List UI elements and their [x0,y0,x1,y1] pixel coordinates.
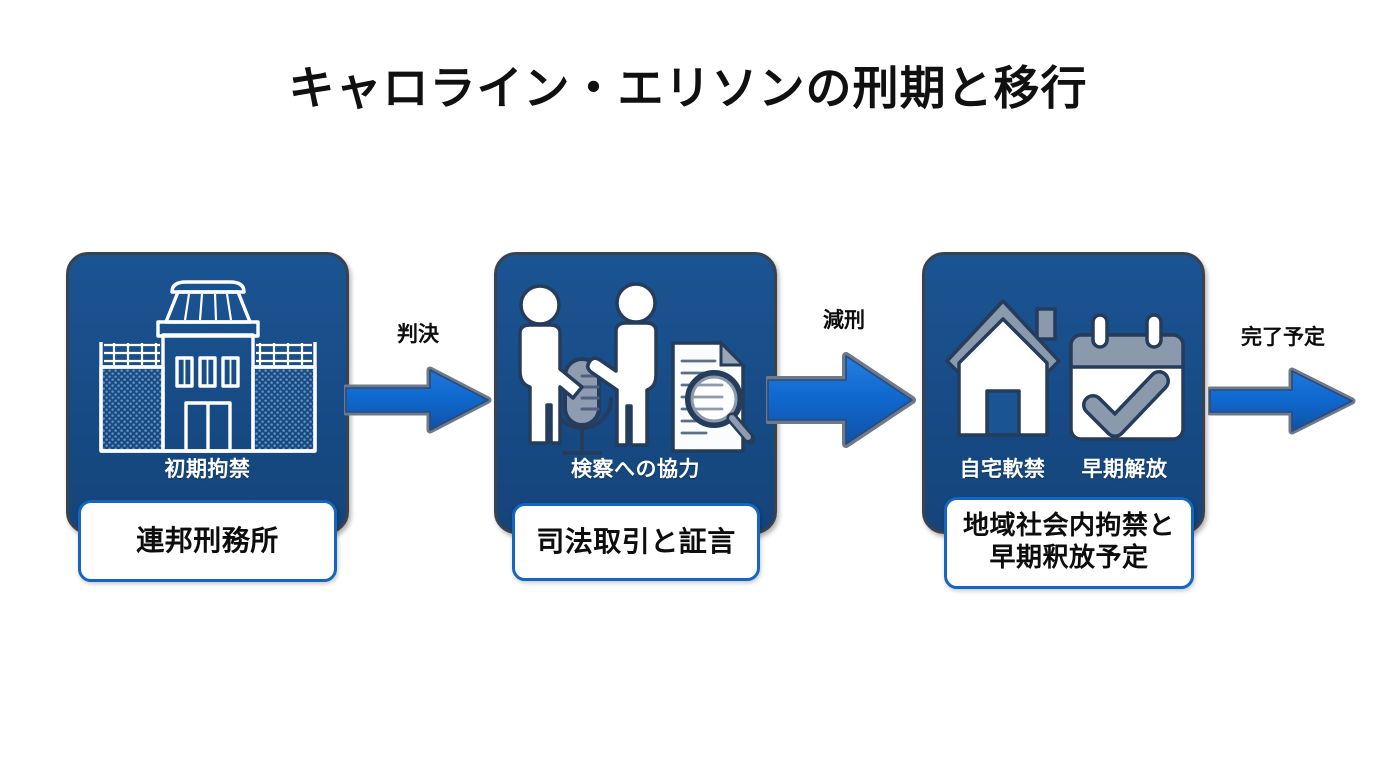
stage-3-label-2: 早期解放 [1082,453,1168,483]
stage-1-callout-text: 連邦刑務所 [136,524,279,558]
house-icon [947,301,1059,435]
arrow-right-icon [344,364,492,436]
slide-canvas: キャロライン・エリソンの刑期と移行 [0,0,1376,768]
cooperation-icon-group [510,281,762,469]
stage-2-callout-text: 司法取引と証言 [536,525,736,559]
arrow-2-label: 減刑 [784,304,904,334]
arrow-right-icon [766,350,916,450]
arrow-3-label: 完了予定 [1218,321,1348,351]
stage-2-callout[interactable]: 司法取引と証言 [512,503,760,581]
stage-2-label-row: 検察への協力 [497,453,774,483]
stage-3-callout[interactable]: 地域社会内拘禁と 早期釈放予定 [944,497,1194,589]
stage-card-1[interactable]: 初期拘禁 [66,252,349,534]
stage-1-callout[interactable]: 連邦刑務所 [78,500,337,582]
calendar-check-icon [1071,315,1183,439]
stage-card-3[interactable]: 自宅軟禁 早期解放 [922,252,1205,534]
stage-3-icon-group [925,285,1202,465]
stage-3-label-1: 自宅軟禁 [960,453,1046,483]
arrow-3: 完了予定 [1208,366,1358,436]
stage-1-label-1: 初期拘禁 [165,453,251,483]
stage-2-label-1: 検察への協力 [571,453,700,483]
stage-1-label-row: 初期拘禁 [69,453,346,483]
stage-card-2[interactable]: 検察への協力 [494,252,777,534]
stage-1-icon-group [69,277,346,469]
prison-building-icon [90,279,326,469]
stage-2-icon-group [497,281,774,469]
arrow-1-label: 判決 [358,318,478,348]
home-release-icon-group [941,287,1187,465]
arrow-2: 減刑 [766,350,916,450]
stage-3-label-row: 自宅軟禁 早期解放 [925,453,1202,483]
arrow-1: 判決 [344,364,492,436]
document-magnifier-icon [673,343,750,451]
arrow-right-icon [1208,366,1358,436]
page-title: キャロライン・エリソンの刑期と移行 [0,52,1376,118]
stage-3-callout-text: 地域社会内拘禁と 早期釈放予定 [963,511,1175,574]
